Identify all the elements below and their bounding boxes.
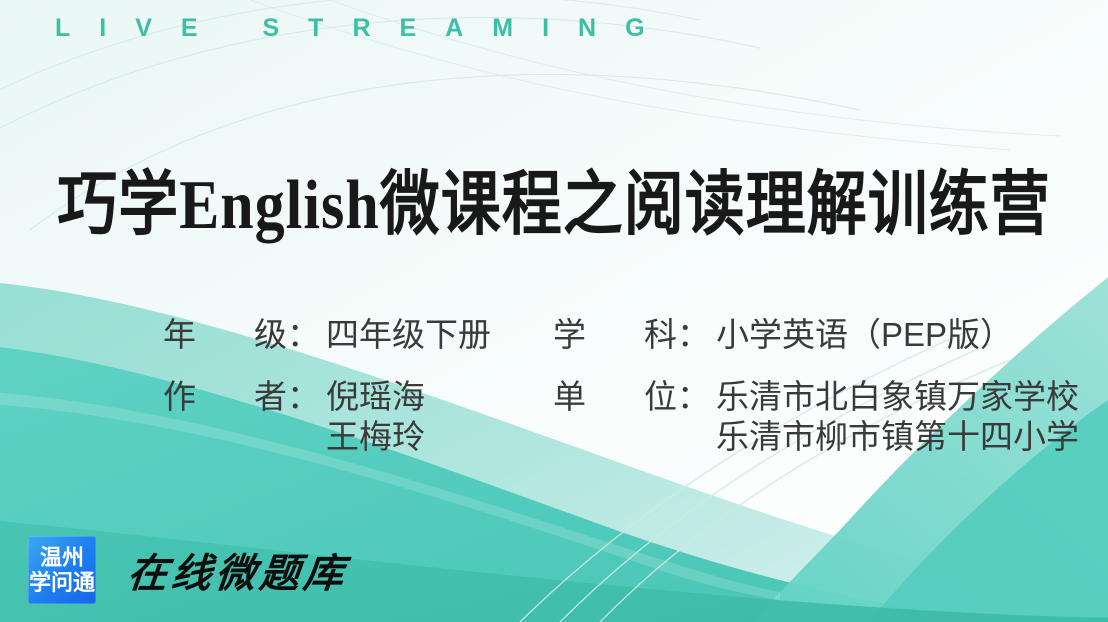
meta-field-grade: 年级： 四年级下册 <box>163 315 553 355</box>
meta-field-author: 作者： 倪瑶海 王梅玲 <box>163 377 553 457</box>
course-meta-block: 年级： 四年级下册 学科： 小学英语（PEP版） 作者： 倪瑶海 王梅玲 单位：… <box>0 315 1108 457</box>
meta-value-subject: 小学英语（PEP版） <box>710 315 1013 355</box>
author-name-2: 王梅玲 <box>326 417 425 457</box>
meta-field-unit: 单位： 乐清市北白象镇万家学校 乐清市柳市镇第十四小学 <box>553 377 1079 457</box>
meta-label-grade: 年级： <box>163 315 320 355</box>
eyebrow-live-streaming: LIVE STREAMING <box>55 14 1055 43</box>
unit-name-2: 乐清市柳市镇第十四小学 <box>716 417 1079 457</box>
meta-value-grade: 四年级下册 <box>320 315 491 355</box>
meta-label-author: 作者： <box>163 377 320 417</box>
meta-label-unit: 单位： <box>553 377 710 417</box>
author-name-1: 倪瑶海 <box>326 378 425 415</box>
brand-wordmark: 在线微题库 <box>125 541 351 599</box>
meta-label-subject: 学科： <box>553 315 710 355</box>
wenzhou-xuewentong-logo: 温州 学问通 <box>28 536 96 604</box>
meta-value-unit: 乐清市北白象镇万家学校 乐清市柳市镇第十四小学 <box>710 377 1079 457</box>
meta-row-author-unit: 作者： 倪瑶海 王梅玲 单位： 乐清市北白象镇万家学校 乐清市柳市镇第十四小学 <box>0 377 1108 457</box>
meta-value-author: 倪瑶海 王梅玲 <box>320 377 425 457</box>
slide-canvas: LIVE STREAMING 巧学English微课程之阅读理解训练营 年级： … <box>0 0 1108 622</box>
background-wave-artwork <box>0 0 1108 622</box>
unit-name-1: 乐清市北白象镇万家学校 <box>716 378 1079 415</box>
logo-line-2: 学问通 <box>29 570 95 595</box>
logo-line-1: 温州 <box>40 545 84 570</box>
page-title: 巧学English微课程之阅读理解训练营 <box>0 148 1108 249</box>
meta-field-subject: 学科： 小学英语（PEP版） <box>553 315 1013 355</box>
brand-footer: 温州 学问通 在线微题库 <box>28 536 348 604</box>
meta-row-grade-subject: 年级： 四年级下册 学科： 小学英语（PEP版） <box>0 315 1108 355</box>
